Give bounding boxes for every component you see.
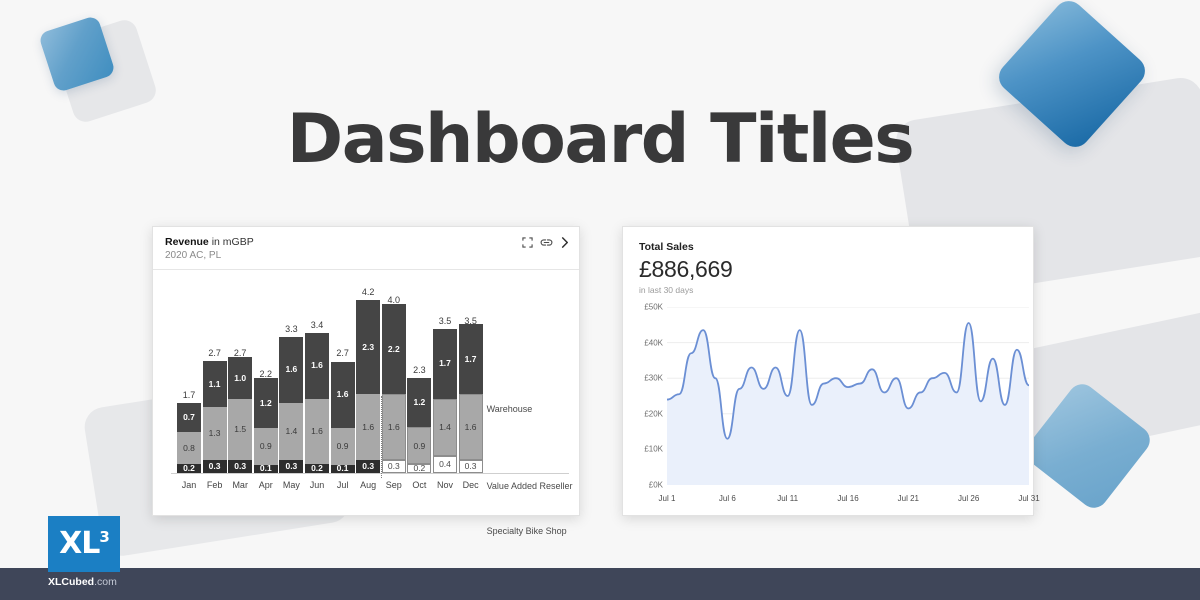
bar-column[interactable]: 1.71.40.4	[433, 329, 457, 473]
bar-column[interactable]: 1.20.90.1	[254, 378, 278, 472]
bar-segment: 1.6	[331, 362, 355, 428]
logo-caption: XLCubed.com	[48, 576, 117, 588]
bar-total-label: 3.4	[300, 320, 334, 330]
logo-superscript: 3	[99, 528, 108, 546]
bar-total-label: 3.5	[454, 316, 488, 326]
bar-segment: 2.2	[382, 304, 406, 395]
total-sales-title: Total Sales	[639, 241, 1033, 253]
bar-column[interactable]: 1.61.40.3	[279, 337, 303, 473]
line-chart-svg	[667, 307, 1029, 485]
revenue-card-titles: Revenue in mGBP 2020 AC, PL	[165, 235, 254, 263]
bar-total-label: 2.3	[402, 365, 436, 375]
total-sales-value: £886,669	[639, 256, 1033, 283]
bar-segment: 1.4	[279, 403, 303, 461]
x-axis-tick-label: Jul 11	[768, 494, 808, 503]
bar-total-label: 2.2	[249, 369, 283, 379]
y-axis-tick-label: £20K	[633, 409, 663, 418]
poster-canvas: Dashboard Titles Revenue in mGBP 2020 AC…	[0, 0, 1200, 600]
bar-column[interactable]: 1.20.90.2	[407, 378, 431, 473]
bar-segment: 1.6	[356, 394, 380, 460]
bar-segment: 1.6	[279, 337, 303, 403]
bar-segment: 0.3	[228, 460, 252, 472]
y-axis-tick-label: £40K	[633, 338, 663, 347]
x-axis-tick-label: Jul 6	[707, 494, 747, 503]
bar-segment: 1.5	[228, 399, 252, 461]
bar-segment: 1.6	[305, 333, 329, 399]
revenue-card-subtitle: 2020 AC, PL	[165, 249, 254, 263]
bar-column[interactable]: 2.21.60.3	[382, 304, 406, 473]
bar-plot-area: 0.70.80.21.7Jan1.11.30.32.7Feb1.01.50.32…	[163, 278, 575, 490]
bar-segment: 0.3	[203, 460, 227, 472]
bar-segment: 0.2	[407, 464, 431, 472]
bar-total-label: 2.7	[326, 348, 360, 358]
bar-segment: 0.3	[382, 460, 406, 472]
y-axis-tick-label: £10K	[633, 445, 663, 454]
y-axis-tick-label: £50K	[633, 303, 663, 312]
logo-mark: XL	[59, 526, 99, 561]
bar-segment: 0.8	[177, 432, 201, 465]
revenue-card: Revenue in mGBP 2020 AC, PL	[152, 226, 580, 516]
x-axis-tick-label: Jul 31	[1009, 494, 1049, 503]
total-sales-line-chart: £0K£10K£20K£30K£40K£50KJul 1Jul 6Jul 11J…	[633, 303, 1021, 503]
x-axis-tick-label: Jul 1	[647, 494, 687, 503]
logo-caption-bold: XLCubed	[48, 576, 94, 588]
bar-column[interactable]: 1.60.90.1	[331, 362, 355, 473]
logo-caption-dim: .com	[94, 576, 117, 588]
bar-column[interactable]: 1.11.30.3	[203, 361, 227, 472]
bar-column[interactable]: 1.71.60.3	[459, 324, 483, 472]
bar-segment: 1.6	[382, 394, 406, 460]
bar-segment: 1.2	[254, 378, 278, 427]
xlcubed-logo: XL3	[48, 516, 120, 572]
bar-total-label: 4.0	[377, 295, 411, 305]
logo-text: XL3	[59, 529, 109, 559]
link-icon[interactable]	[540, 237, 553, 248]
bar-x-label: Dec	[454, 480, 488, 490]
series-label-2: Value Added Reseller	[487, 481, 573, 491]
y-axis-tick-label: £0K	[633, 481, 663, 490]
y-axis-tick-label: £30K	[633, 374, 663, 383]
revenue-card-header: Revenue in mGBP 2020 AC, PL	[153, 227, 579, 270]
series-label-1: Warehouse	[487, 404, 533, 414]
bar-column[interactable]: 0.70.80.2	[177, 403, 201, 473]
footer-bar	[0, 568, 1200, 600]
line-plot-area	[667, 307, 1021, 485]
series-label-3: Specialty Bike Shop	[487, 526, 567, 536]
bar-segment: 1.7	[459, 324, 483, 394]
bar-segment: 1.4	[433, 399, 457, 457]
actual-forecast-divider	[381, 396, 382, 478]
bar-segment: 0.9	[407, 427, 431, 464]
total-sales-card: Total Sales £886,669 in last 30 days £0K…	[622, 226, 1034, 516]
bar-segment: 0.2	[177, 464, 201, 472]
bar-segment: 0.7	[177, 403, 201, 432]
total-sales-subtitle: in last 30 days	[639, 285, 1033, 295]
revenue-card-title: Revenue in mGBP	[165, 235, 254, 249]
bar-column[interactable]: 2.31.60.3	[356, 300, 380, 473]
bar-axis-line	[171, 473, 569, 474]
revenue-title-strong: Revenue	[165, 236, 209, 248]
bar-segment: 1.6	[305, 399, 329, 465]
bar-segment: 0.1	[254, 465, 278, 473]
bar-segment: 0.3	[356, 460, 380, 472]
bar-segment: 0.3	[459, 460, 483, 472]
revenue-card-actions	[522, 235, 569, 248]
total-sales-header: Total Sales £886,669 in last 30 days	[623, 227, 1033, 295]
bar-segment: 0.1	[331, 465, 355, 473]
revenue-title-rest: in mGBP	[209, 236, 254, 248]
page-title: Dashboard Titles	[0, 100, 1200, 179]
revenue-bar-chart: 0.70.80.21.7Jan1.11.30.32.7Feb1.01.50.32…	[153, 270, 581, 515]
bar-segment: 1.1	[203, 361, 227, 406]
bar-segment: 0.9	[254, 428, 278, 465]
bar-segment: 1.3	[203, 407, 227, 461]
x-axis-tick-label: Jul 16	[828, 494, 868, 503]
bar-segment: 1.2	[407, 378, 431, 427]
bar-segment: 0.4	[433, 456, 457, 472]
bar-segment: 0.3	[279, 460, 303, 472]
bar-segment: 2.3	[356, 300, 380, 395]
expand-icon[interactable]	[522, 237, 533, 248]
bar-segment: 0.9	[331, 428, 355, 465]
chevron-right-icon[interactable]	[560, 237, 569, 248]
bar-total-label: 2.7	[223, 348, 257, 358]
bar-segment: 1.7	[433, 329, 457, 399]
bar-segment: 1.6	[459, 394, 483, 460]
x-axis-tick-label: Jul 26	[949, 494, 989, 503]
bar-segment: 0.2	[305, 464, 329, 472]
bar-total-label: 1.7	[172, 390, 206, 400]
x-axis-tick-label: Jul 21	[888, 494, 928, 503]
